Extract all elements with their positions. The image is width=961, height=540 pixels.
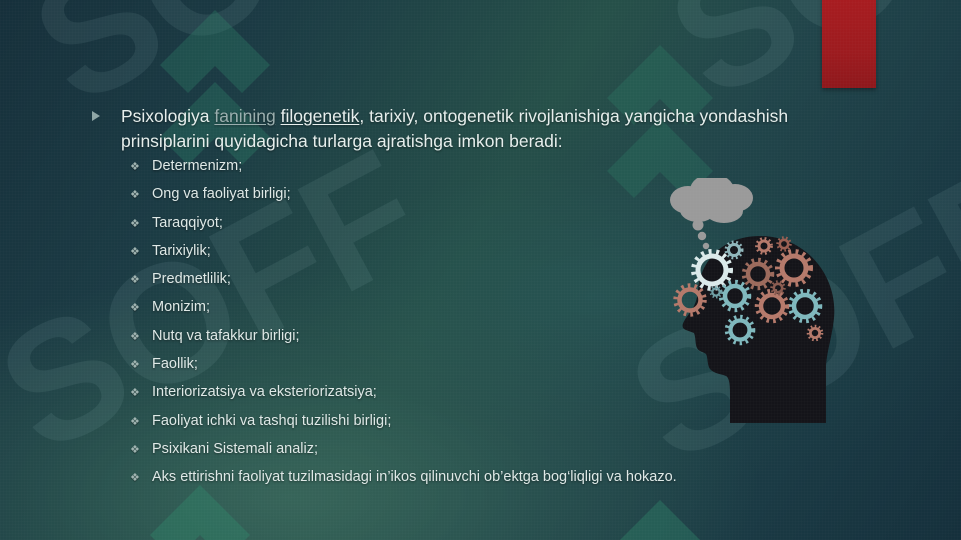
list-item: ❖ Determenizm; <box>130 156 930 184</box>
main-text-seg-0: Psixologiya <box>121 106 214 126</box>
triangle-bullet-icon <box>92 111 100 121</box>
list-item: ❖ Psixikani Sistemali analiz; <box>130 439 930 467</box>
diamond-bullet-icon: ❖ <box>130 303 152 314</box>
diamond-bullet-icon: ❖ <box>130 417 152 428</box>
link-filogenetik[interactable]: filogenetik <box>281 106 360 126</box>
diamond-bullet-icon: ❖ <box>130 275 152 286</box>
list-item: ❖ Aks ettirishni faoliyat tuzilmasidagi … <box>130 467 930 495</box>
link-fanining[interactable]: fanining <box>214 106 275 126</box>
list-item-label: Taraqqiyot; <box>152 213 223 233</box>
list-item-label: Determenizm; <box>152 156 242 176</box>
list-item: ❖ Faoliyat ichki va tashqi tuzilishi bir… <box>130 411 930 439</box>
main-bullet: Psixologiya fanining filogenetik, tarixi… <box>92 104 832 154</box>
slide-canvas: SOFF SOFF SOFF SOFF <box>0 0 961 540</box>
sub-bullet-list: ❖ Determenizm; ❖ Ong va faoliyat birligi… <box>130 156 930 496</box>
diamond-bullet-icon: ❖ <box>130 219 152 230</box>
list-item: ❖ Predmetlilik; <box>130 269 930 297</box>
list-item: ❖ Faollik; <box>130 354 930 382</box>
diamond-bullet-icon: ❖ <box>130 162 152 173</box>
list-item: ❖ Ong va faoliyat birligi; <box>130 184 930 212</box>
diamond-bullet-icon: ❖ <box>130 388 152 399</box>
list-item-label: Predmetlilik; <box>152 269 231 289</box>
list-item: ❖ Taraqqiyot; <box>130 213 930 241</box>
list-item-label: Psixikani Sistemali analiz; <box>152 439 318 459</box>
list-item-label: Monizim; <box>152 297 210 317</box>
list-item-label: Interiorizatsiya va eksteriorizatsiya; <box>152 382 377 402</box>
diamond-bullet-icon: ❖ <box>130 445 152 456</box>
diamond-bullet-icon: ❖ <box>130 332 152 343</box>
list-item: ❖ Nutq va tafakkur birligi; <box>130 326 930 354</box>
list-item: ❖ Interiorizatsiya va eksteriorizatsiya; <box>130 382 930 410</box>
slide-content: Psixologiya fanining filogenetik, tarixi… <box>0 0 961 540</box>
list-item-label: Faoliyat ichki va tashqi tuzilishi birli… <box>152 411 391 431</box>
diamond-bullet-icon: ❖ <box>130 247 152 258</box>
list-item-label: Ong va faoliyat birligi; <box>152 184 291 204</box>
diamond-bullet-icon: ❖ <box>130 190 152 201</box>
diamond-bullet-icon: ❖ <box>130 473 152 484</box>
list-item-label: Aks ettirishni faoliyat tuzilmasidagi in… <box>152 467 677 487</box>
list-item-label: Nutq va tafakkur birligi; <box>152 326 299 346</box>
list-item: ❖ Monizim; <box>130 297 930 325</box>
main-bullet-text: Psixologiya fanining filogenetik, tarixi… <box>121 104 832 154</box>
list-item: ❖ Tarixiylik; <box>130 241 930 269</box>
list-item-label: Tarixiylik; <box>152 241 211 261</box>
diamond-bullet-icon: ❖ <box>130 360 152 371</box>
list-item-label: Faollik; <box>152 354 198 374</box>
